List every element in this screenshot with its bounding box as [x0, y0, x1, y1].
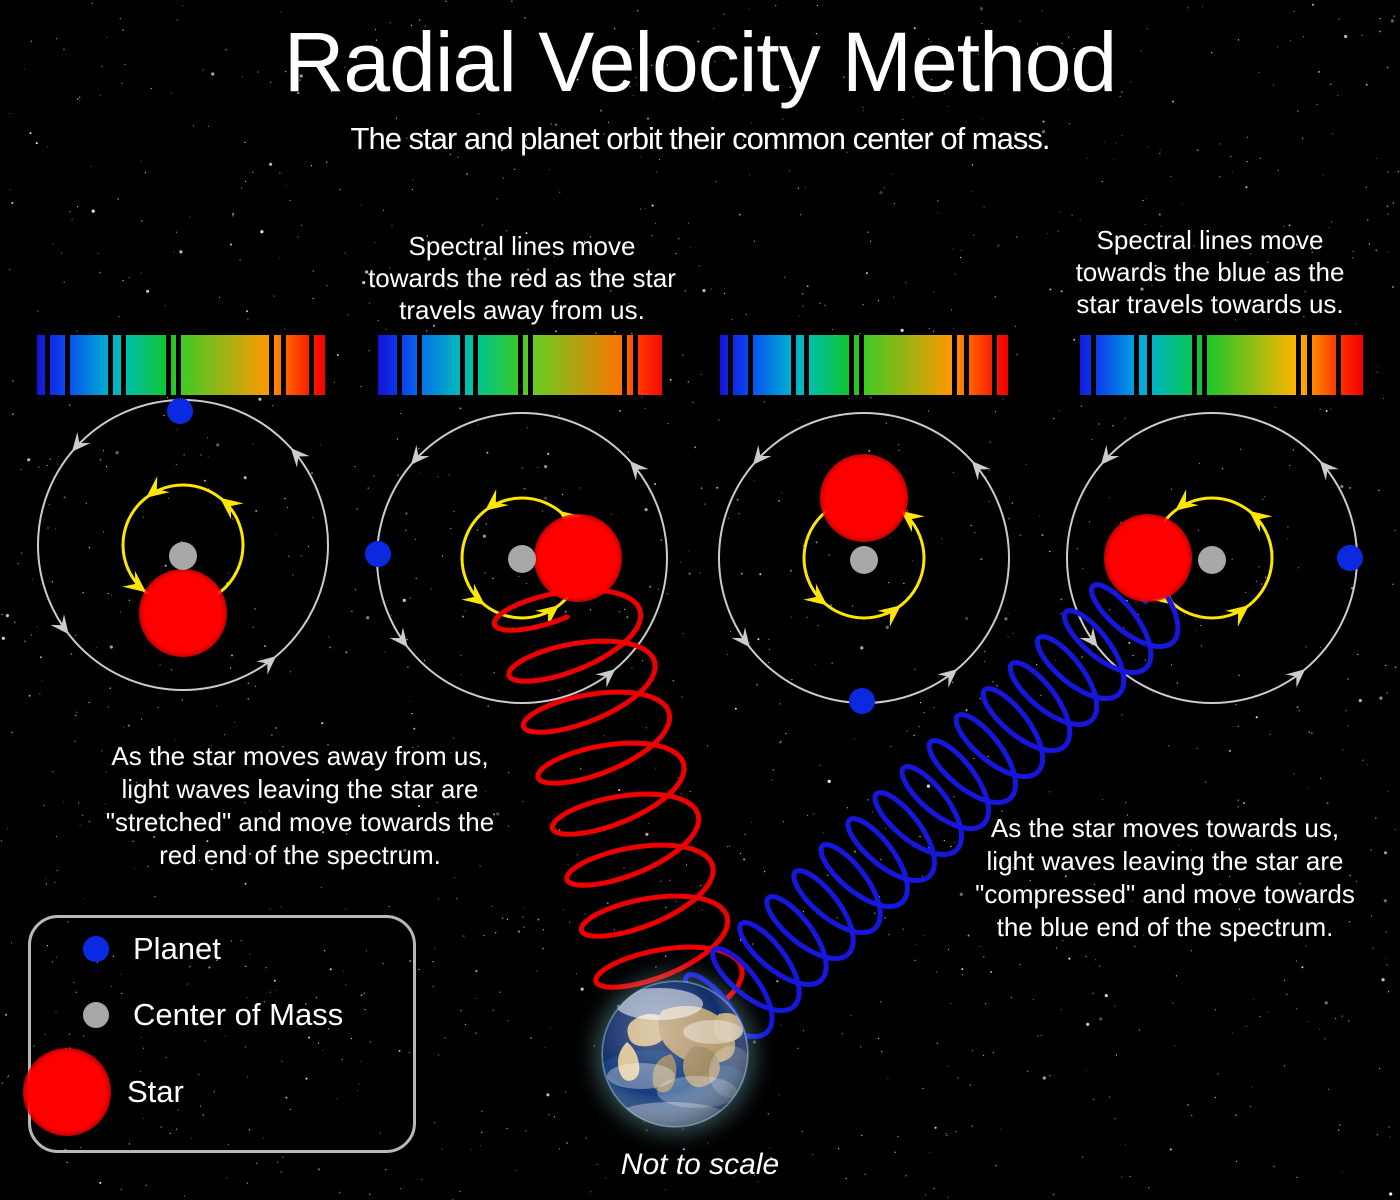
star-body [139, 569, 227, 657]
orbit-direction-arrow [140, 476, 170, 506]
radial-velocity-diagram: Radial Velocity Method The star and plan… [0, 0, 1400, 1200]
explanation-blueshift: As the star moves towards us, light wave… [940, 812, 1390, 944]
star-body [1104, 514, 1192, 602]
legend-item-center-of-mass: Center of Mass [83, 998, 343, 1032]
center-of-mass-dot-icon [83, 1002, 109, 1028]
orbit-direction-arrow [1225, 597, 1255, 627]
orbit-direction-arrow [1285, 663, 1310, 688]
explanation-redshift: As the star moves away from us, light wa… [60, 740, 540, 872]
orbit-direction-arrow [803, 584, 833, 614]
orbit-direction-arrow [1243, 503, 1273, 533]
planet-dot-icon [83, 936, 109, 962]
orbit-direction-arrow [1079, 627, 1104, 652]
orbit-direction-arrow [479, 489, 509, 519]
star-body [820, 454, 908, 542]
orbit-direction-arrow [50, 614, 75, 639]
star-disc-icon [23, 1048, 111, 1136]
orbit-direction-arrow [877, 597, 907, 627]
center-of-mass-body [1198, 546, 1226, 574]
legend-item-star: Star [23, 1048, 184, 1136]
orbit-direction-arrow [731, 627, 756, 652]
orbit-direction-arrow [214, 490, 244, 520]
planet-body [1337, 545, 1363, 571]
legend-label-center-of-mass: Center of Mass [133, 998, 343, 1032]
star-body [534, 514, 622, 602]
orbit-direction-arrow [1169, 489, 1199, 519]
orbit-direction-arrow [937, 663, 962, 688]
orbit-direction-arrow [389, 627, 414, 652]
center-of-mass-body [169, 542, 197, 570]
legend-label-planet: Planet [133, 932, 221, 966]
legend-box: Planet Center of Mass Star [28, 915, 416, 1153]
legend-item-planet: Planet [83, 932, 221, 966]
scale-note: Not to scale [540, 1148, 860, 1182]
earth-globe [601, 980, 749, 1128]
center-of-mass-body [508, 545, 536, 573]
orbit-direction-arrow [256, 650, 281, 675]
earth-icon [601, 980, 749, 1128]
legend-label-star: Star [127, 1075, 184, 1109]
planet-body [167, 398, 193, 424]
planet-body [365, 541, 391, 567]
orbit-direction-arrow [461, 584, 491, 614]
planet-body [849, 688, 875, 714]
center-of-mass-body [850, 546, 878, 574]
orbit-direction-arrow [595, 663, 620, 688]
orbit-direction-arrow [535, 597, 565, 627]
